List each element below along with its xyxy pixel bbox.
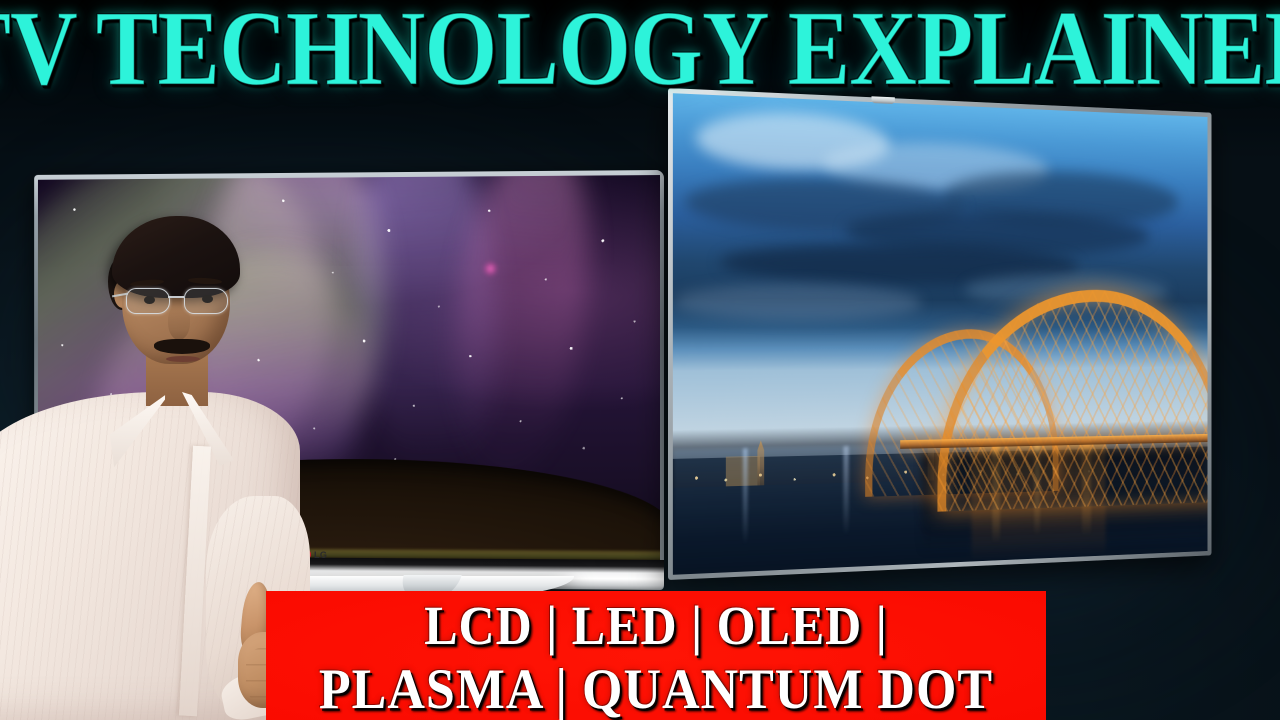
presenter-moustache (154, 339, 210, 354)
glasses-bridge (168, 296, 184, 298)
presenter-mouth (166, 356, 200, 362)
glasses-lens (184, 288, 228, 314)
tv-right-screen (673, 93, 1208, 575)
presenter-nose (168, 306, 190, 340)
banner-line-2: PLASMA | QUANTUM DOT (319, 662, 993, 719)
flat-led-tv-right (668, 88, 1211, 580)
cloud (673, 284, 922, 321)
tv-camera-icon (871, 96, 894, 104)
technology-banner: LCD | LED | OLED | PLASMA | QUANTUM DOT (266, 591, 1046, 720)
glasses-lens (126, 288, 170, 314)
video-thumbnail: LG (0, 0, 1280, 720)
banner-line-1: LCD | LED | OLED | (424, 598, 888, 653)
pink-star (483, 260, 499, 276)
